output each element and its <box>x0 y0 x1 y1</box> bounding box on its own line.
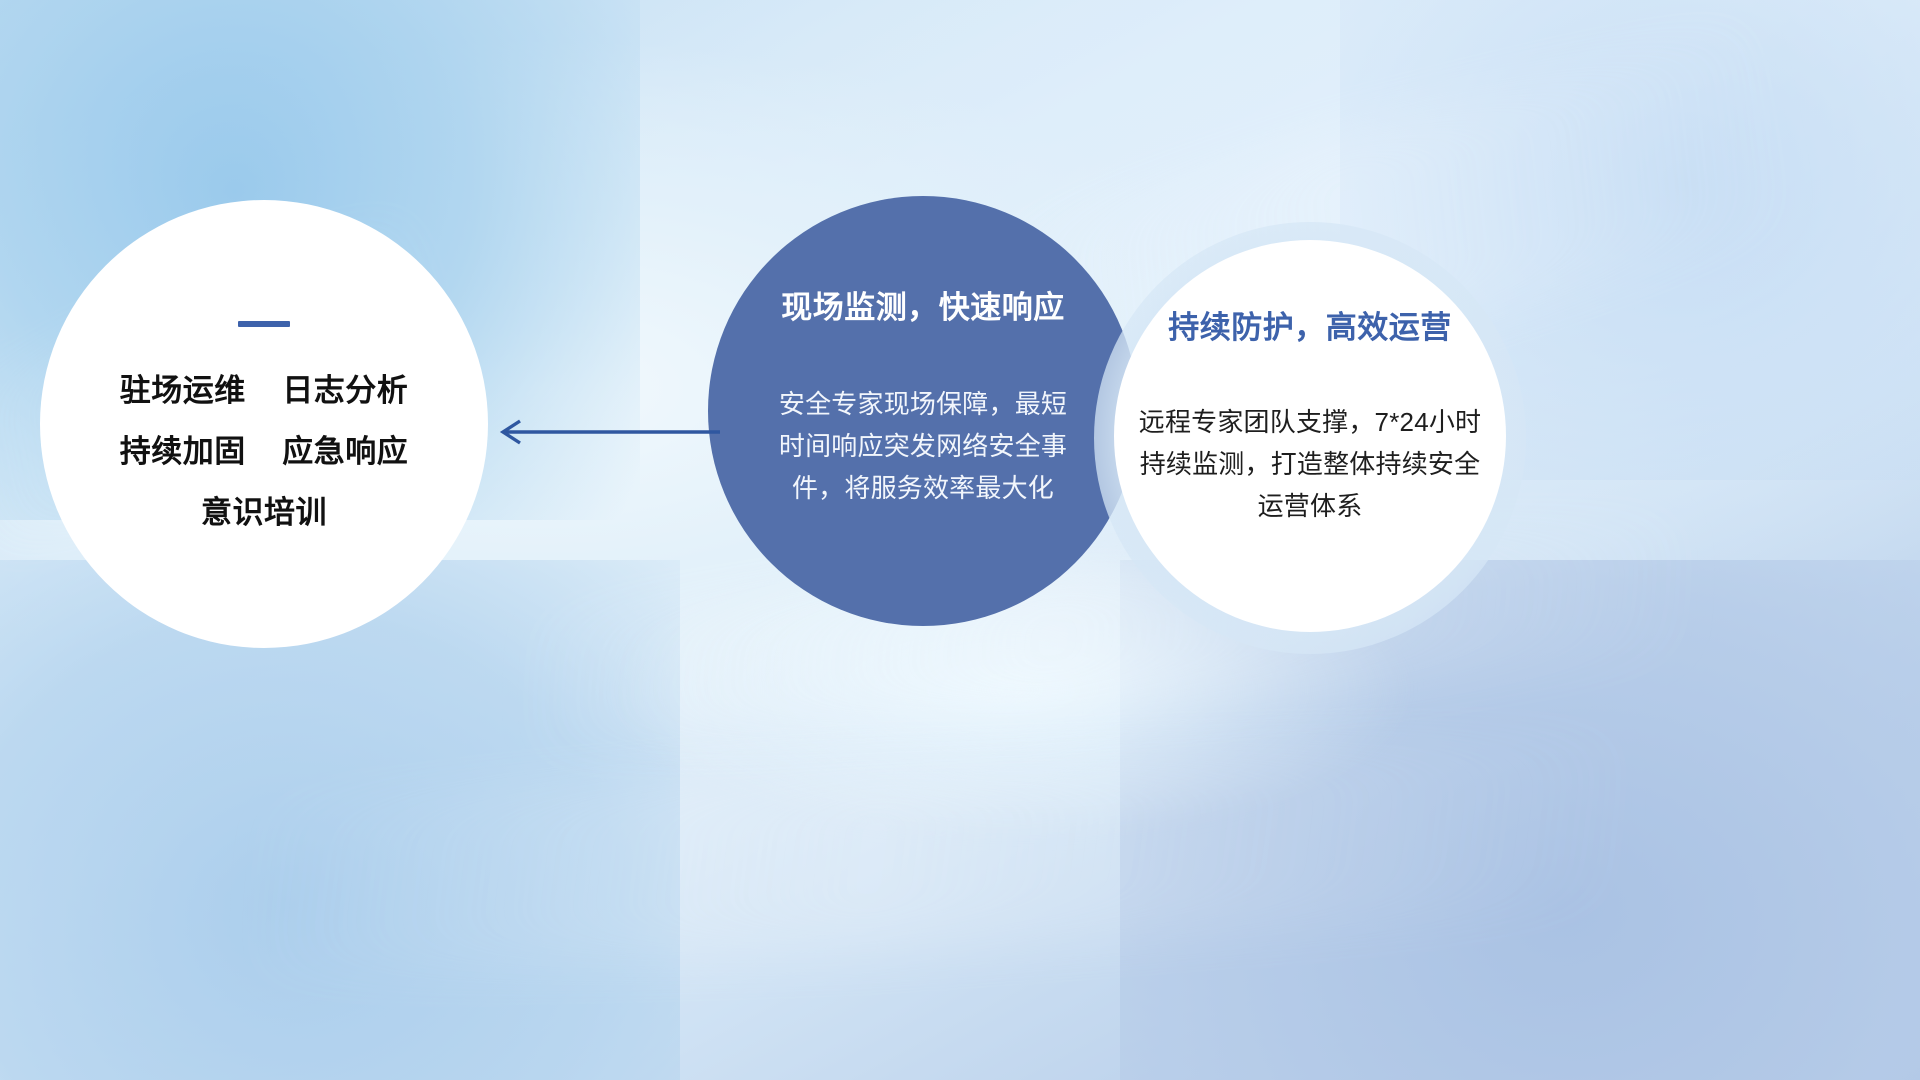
middle-circle-title: 现场监测，快速响应 <box>781 282 1065 327</box>
left-circle-line-2: 持续加固 应急响应 <box>120 436 408 467</box>
right-service-circle[interactable]: 持续防护，高效运营 远程专家团队支撑，7*24小时持续监测，打造整体持续安全运营… <box>1114 240 1506 632</box>
slide-canvas: 驻场运维 日志分析 持续加固 应急响应 意识培训 现场监测，快速响应 安全专家现… <box>0 0 1920 1080</box>
right-circle-title: 持续防护，高效运营 <box>1168 302 1452 347</box>
middle-service-circle[interactable]: 现场监测，快速响应 安全专家现场保障，最短时间响应突发网络安全事件，将服务效率最… <box>708 196 1138 626</box>
right-circle-body: 远程专家团队支撑，7*24小时持续监测，打造整体持续安全运营体系 <box>1134 401 1486 527</box>
left-service-circle[interactable]: 驻场运维 日志分析 持续加固 应急响应 意识培训 <box>40 200 488 648</box>
left-circle-line-1: 驻场运维 日志分析 <box>120 375 408 406</box>
left-circle-line-3: 意识培训 <box>201 497 327 528</box>
middle-circle-body: 安全专家现场保障，最短时间响应突发网络安全事件，将服务效率最大化 <box>773 383 1073 509</box>
horizontal-dash-divider-icon <box>238 321 290 327</box>
left-arrow-icon <box>494 416 720 448</box>
